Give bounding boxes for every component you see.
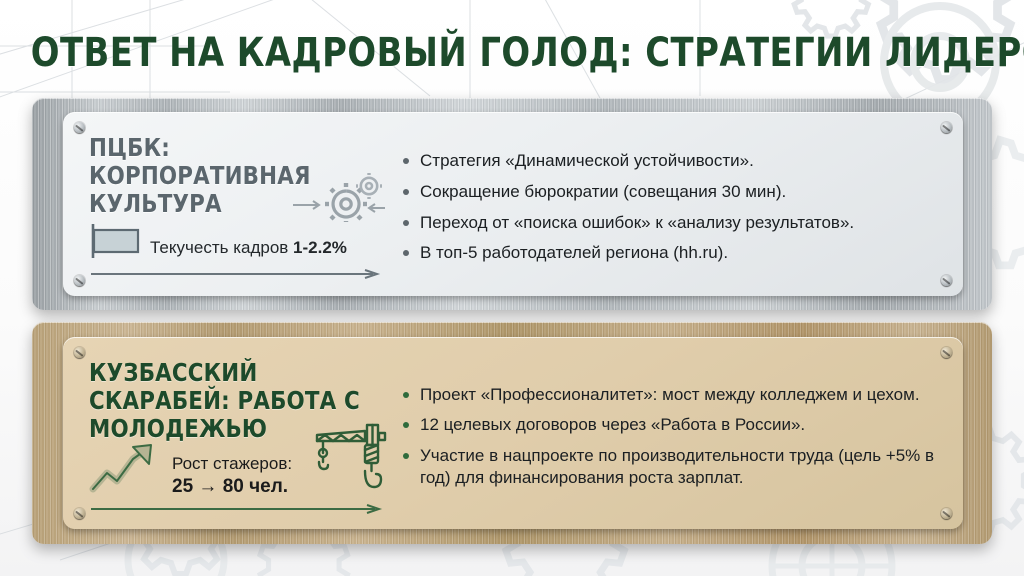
- panel-pcbk-stat-value: 1-2.2%: [293, 238, 347, 257]
- list-item: Проект «Профессионалитет»: мост между ко…: [399, 384, 937, 406]
- list-item: Переход от «поиска ошибок» к «анализу ре…: [399, 212, 854, 234]
- panel-scarab-stat-label: Рост стажеров:: [172, 454, 292, 475]
- panel-pcbk-card: ПЦБК: КОРПОРАТИВНАЯ КУЛЬТУРА: [63, 112, 963, 296]
- panel-pcbk-axis: [89, 268, 385, 278]
- panel-pcbk-stat: Текучесть кадров 1-2.2%: [89, 218, 385, 278]
- gears-icon: [291, 172, 387, 222]
- growth-arrow-icon: [89, 443, 163, 500]
- panel-scarab-bullet-list: Проект «Профессионалитет»: мост между ко…: [399, 384, 937, 489]
- panel-scarab-stat-value: 25 → 80 чел.: [172, 475, 292, 498]
- panel-scarab-stat-text: Рост стажеров: 25 → 80 чел.: [172, 454, 292, 500]
- page-title: ОТВЕТ НА КАДРОВЫЙ ГОЛОД: СТРАТЕГИИ ЛИДЕР…: [31, 30, 994, 76]
- bar-chart-icon: [89, 218, 141, 265]
- panel-pcbk-stat-text: Текучесть кадров 1-2.2%: [150, 238, 347, 265]
- panel-pcbk-right-column: Стратегия «Динамической устойчивости». С…: [393, 112, 963, 296]
- list-item: В топ-5 работодателей региона (hh.ru).: [399, 242, 854, 264]
- panel-pcbk-bullet-list: Стратегия «Динамической устойчивости». С…: [399, 150, 854, 264]
- list-item: Сокращение бюрократии (совещания 30 мин)…: [399, 181, 854, 203]
- panel-scarab-stat: Рост стажеров: 25 → 80 чел.: [89, 443, 385, 513]
- list-item: Стратегия «Динамической устойчивости».: [399, 150, 854, 172]
- list-item: Участие в нацпроекте по производительнос…: [399, 445, 937, 489]
- list-item: 12 целевых договоров через «Работа в Рос…: [399, 414, 937, 436]
- panel-pcbk-left-column: ПЦБК: КОРПОРАТИВНАЯ КУЛЬТУРА: [63, 112, 393, 296]
- panel-scarab-axis: [89, 503, 385, 513]
- panel-scarab-left-column: КУЗБАССКИЙ СКАРАБЕЙ: РАБОТА С МОЛОДЕЖЬЮ: [63, 337, 393, 529]
- panel-scarab-right-column: Проект «Профессионалитет»: мост между ко…: [393, 337, 963, 529]
- panel-scarab-card: КУЗБАССКИЙ СКАРАБЕЙ: РАБОТА С МОЛОДЕЖЬЮ: [63, 337, 963, 529]
- panel-pcbk-stat-label: Текучесть кадров: [150, 238, 293, 257]
